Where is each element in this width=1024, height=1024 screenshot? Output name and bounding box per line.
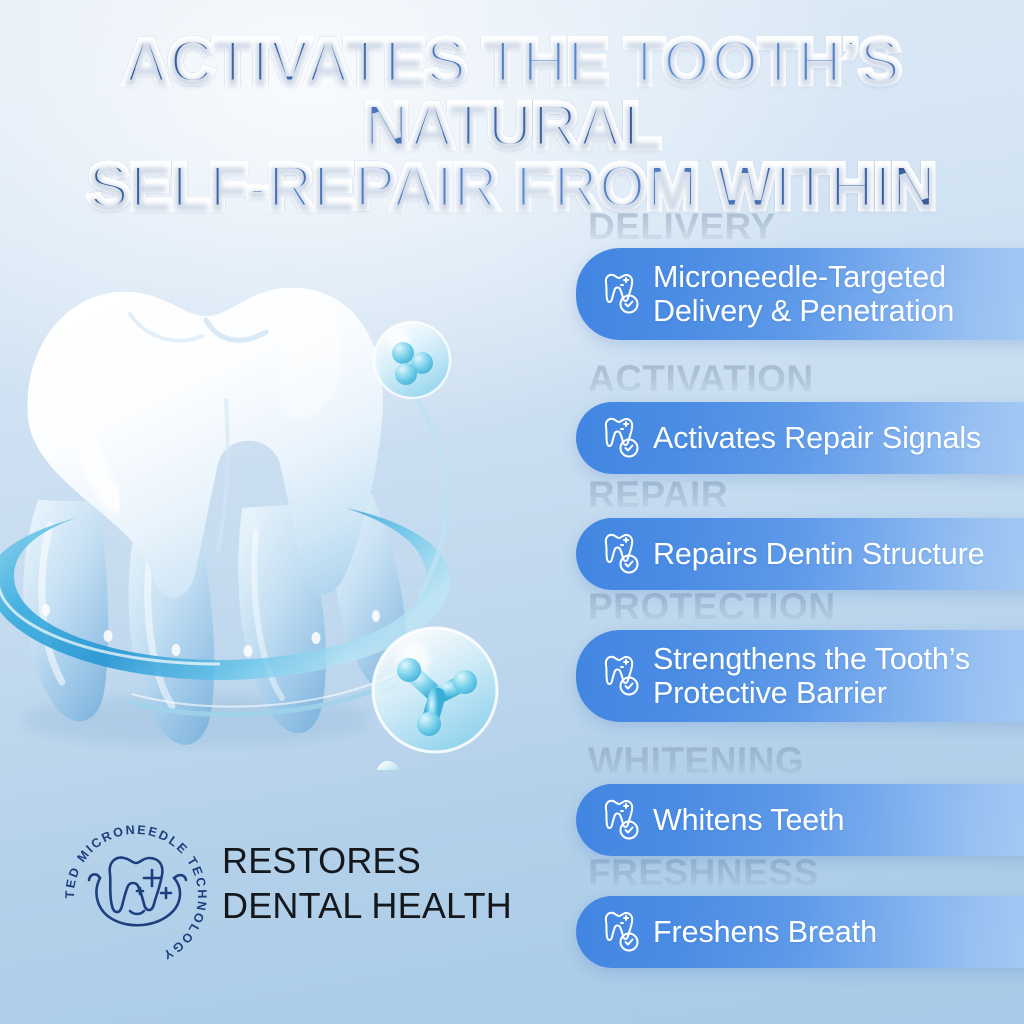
tooth-check-icon <box>598 271 640 317</box>
benefit-text-delivery: Microneedle-Targeted Delivery & Penetrat… <box>653 260 954 329</box>
benefit-text-whitening: Whitens Teeth <box>653 803 844 837</box>
benefit-pill-protection[interactable]: Strengthens the Tooth’s Protective Barri… <box>576 630 1024 722</box>
bubble-dot <box>377 761 399 770</box>
category-label-repair: REPAIR <box>588 474 728 516</box>
category-label-activation: ACTIVATION <box>588 358 814 400</box>
category-label-freshness: FRESHNESS <box>588 852 819 894</box>
molecule-bubble-large <box>373 628 497 752</box>
badge-ring-text: TARGETED MICRONEEDLE TECHNOLOGY <box>52 812 209 963</box>
benefit-pill-repair[interactable]: Repairs Dentin Structure <box>576 518 1024 590</box>
tooth-check-icon <box>598 653 640 699</box>
benefit-pill-delivery[interactable]: Microneedle-Targeted Delivery & Penetrat… <box>576 248 1024 340</box>
tooth-check-icon <box>598 415 640 461</box>
badge-tooth-icon <box>89 858 186 926</box>
benefits-list: DELIVERY Microneedle-Targeted Delivery &… <box>560 206 1024 956</box>
tooth-check-icon <box>598 909 640 955</box>
benefit-text-activation: Activates Repair Signals <box>653 421 981 455</box>
tooth-illustration <box>0 250 520 770</box>
headline-line-1: ACTIVATES THE TOOTH’S NATURAL <box>0 30 1024 159</box>
benefit-text-protection: Strengthens the Tooth’s Protective Barri… <box>653 642 970 711</box>
tooth-check-icon <box>598 797 640 843</box>
benefit-pill-whitening[interactable]: Whitens Teeth <box>576 784 1024 856</box>
benefit-pill-activation[interactable]: Activates Repair Signals <box>576 402 1024 474</box>
molecule-bubble-small <box>374 322 450 398</box>
tagline-text: RESTORES DENTAL HEALTH <box>222 838 512 929</box>
category-label-protection: PROTECTION <box>588 586 836 628</box>
technology-badge: TARGETED MICRONEEDLE TECHNOLOGY <box>52 812 220 980</box>
benefit-pill-freshness[interactable]: Freshens Breath <box>576 896 1024 968</box>
benefit-text-repair: Repairs Dentin Structure <box>653 537 985 571</box>
page-title: ACTIVATES THE TOOTH’S NATURAL SELF-REPAI… <box>0 30 1024 219</box>
poster-canvas: ACTIVATES THE TOOTH’S NATURAL SELF-REPAI… <box>0 0 1024 1024</box>
benefit-text-freshness: Freshens Breath <box>653 915 877 949</box>
tooth-check-icon <box>598 531 640 577</box>
headline-line-2: SELF-REPAIR FROM WITHIN <box>0 155 1024 219</box>
category-label-whitening: WHITENING <box>588 740 804 782</box>
